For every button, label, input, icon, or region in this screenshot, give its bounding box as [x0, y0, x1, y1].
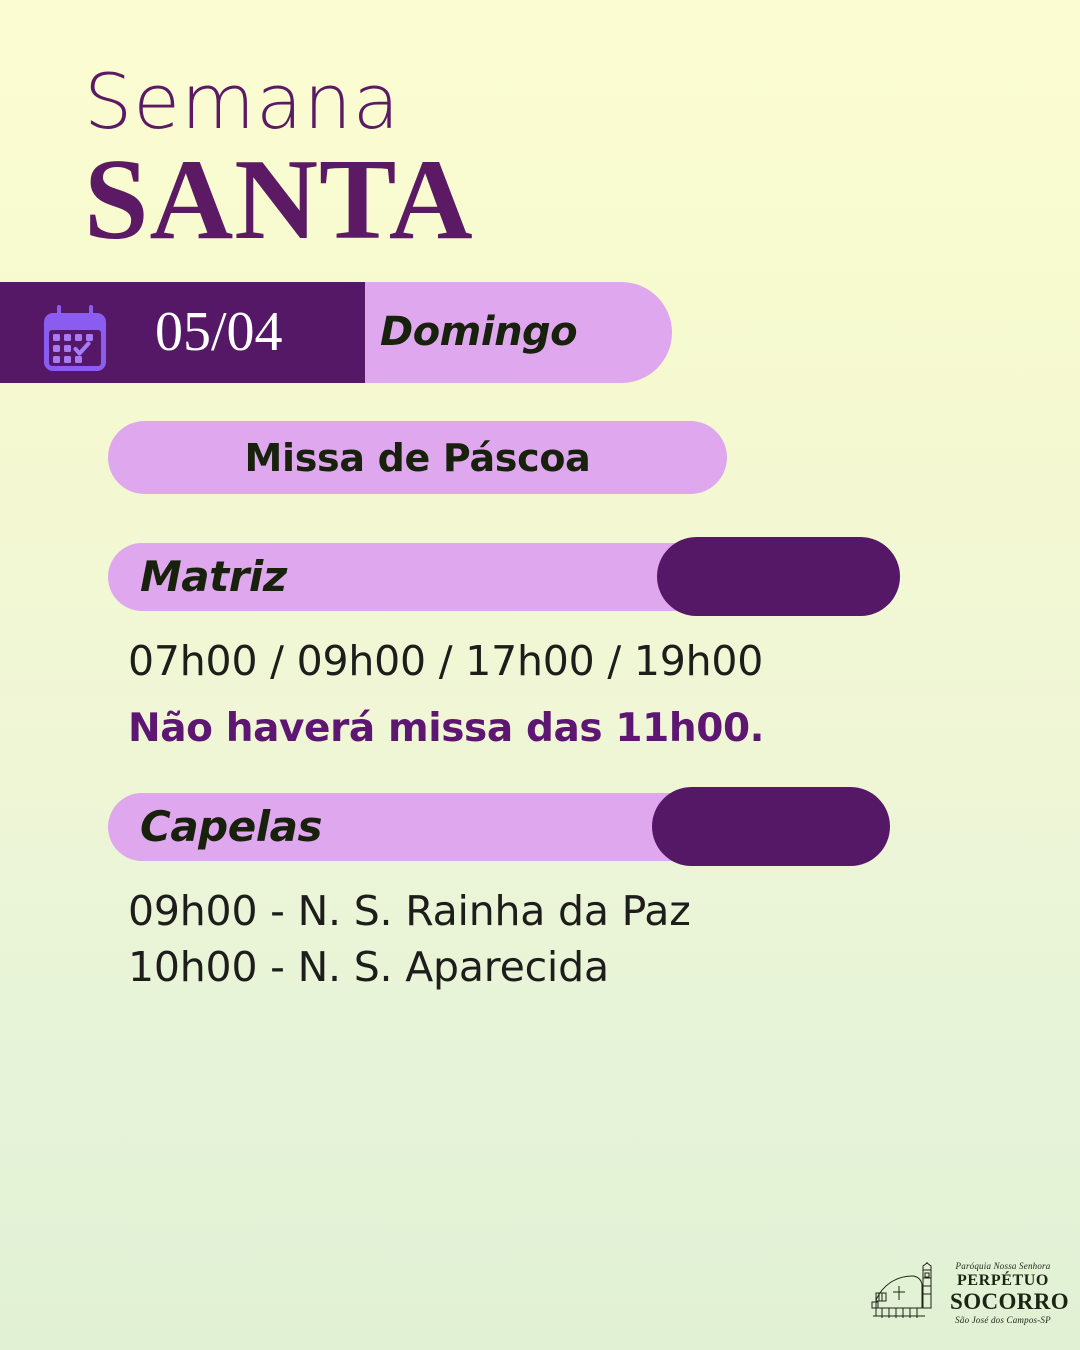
section-matriz-label: Matriz: [140, 543, 287, 611]
page-title: Semana SANTA: [84, 62, 784, 254]
section-capelas: Capelas 09h00 - N. S. Rainha da Paz 10h0…: [0, 787, 1080, 867]
section-matriz-content: 07h00 / 09h00 / 17h00 / 19h00 Não haverá…: [128, 633, 948, 757]
logo-line-city: São José dos Campos-SP: [950, 1314, 1056, 1326]
logo-line-perpetuo: PERPÉTUO: [950, 1272, 1056, 1290]
section-matriz-header: Matriz: [0, 537, 1080, 617]
matriz-note: Não haverá missa das 11h00.: [128, 701, 948, 757]
calendar-icon: [42, 305, 108, 373]
parish-logo: Paróquia Nossa Senhora PERPÉTUO SOCORRO …: [870, 1260, 1056, 1324]
capelas-line-1: 09h00 - N. S. Rainha da Paz: [128, 883, 948, 939]
church-icon: [870, 1262, 944, 1322]
section-matriz: Matriz 07h00 / 09h00 / 17h00 / 19h00 Não…: [0, 537, 1080, 617]
event-title-label: Missa de Páscoa: [244, 436, 590, 480]
section-capelas-dark-pill: [652, 787, 890, 866]
logo-line-parish: Paróquia Nossa Senhora: [950, 1260, 1056, 1272]
date-value: 05/04: [155, 282, 283, 383]
event-title-pill: Missa de Páscoa: [108, 421, 727, 494]
logo-text: Paróquia Nossa Senhora PERPÉTUO SOCORRO …: [950, 1260, 1056, 1326]
title-line-semana: Semana: [84, 62, 784, 142]
section-capelas-content: 09h00 - N. S. Rainha da Paz 10h00 - N. S…: [128, 883, 948, 995]
section-matriz-dark-pill: [657, 537, 900, 616]
section-capelas-label: Capelas: [140, 793, 322, 861]
weekday-label: Domingo: [380, 282, 577, 383]
logo-line-socorro: SOCORRO: [950, 1290, 1056, 1314]
matriz-times: 07h00 / 09h00 / 17h00 / 19h00: [128, 633, 948, 689]
section-capelas-header: Capelas: [0, 787, 1080, 867]
capelas-line-2: 10h00 - N. S. Aparecida: [128, 939, 948, 995]
title-line-santa: SANTA: [84, 146, 784, 254]
